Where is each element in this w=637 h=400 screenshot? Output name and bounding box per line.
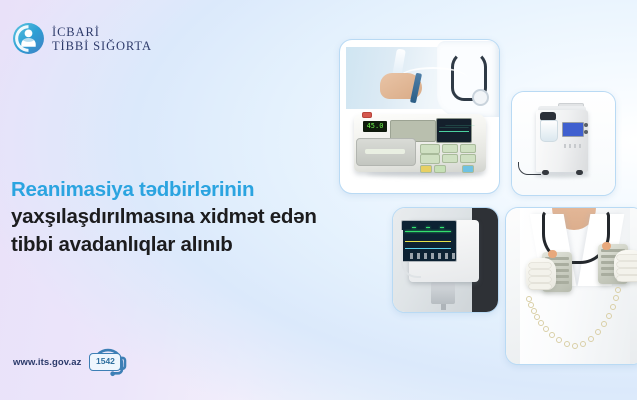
gloved-hand-right [614, 250, 637, 282]
brand-line-1: İCBARİ [52, 25, 152, 39]
headline-line-3: tibbi avadanlıqlar alınıb [11, 231, 333, 258]
icbari-tibbi-sigorta-emblem-icon [12, 22, 45, 55]
brand-wordmark: İCBARİ TİBBİ SIĞORTA [52, 25, 152, 53]
oxygen-concentrator-photo[interactable] [511, 91, 616, 196]
banner-root: İCBARİ TİBBİ SIĞORTA Reanimasiya tədbirl… [0, 0, 637, 400]
footer-contact: www.its.gov.az 1542 [13, 347, 127, 378]
brand-logo[interactable]: İCBARİ TİBBİ SIĞORTA [12, 22, 152, 55]
patient-monitor-photo[interactable] [392, 207, 499, 313]
infusion-syringe-pump-photo[interactable]: 45.0 [339, 39, 500, 194]
website-link[interactable]: www.its.gov.az [13, 357, 81, 368]
headset-call-center-icon[interactable]: 1542 [89, 347, 127, 378]
nurse-preparing-injection-scene [346, 47, 499, 109]
page-title: Reanimasiya tədbirlərinin yaxşılaşdırılm… [11, 176, 333, 258]
gloved-hand-left [526, 258, 556, 290]
brand-line-2: TİBBİ SIĞORTA [52, 39, 152, 53]
defibrillator-paddles-photo[interactable] [505, 207, 637, 365]
pump-value-display: 45.0 [363, 121, 387, 132]
headline-line-1: Reanimasiya tədbirlərinin [11, 176, 333, 203]
headline-line-2: yaxşılaşdırılmasına xidmət edən [11, 203, 333, 230]
hotline-number: 1542 [89, 353, 121, 371]
pump-device: 45.0 [350, 108, 490, 180]
